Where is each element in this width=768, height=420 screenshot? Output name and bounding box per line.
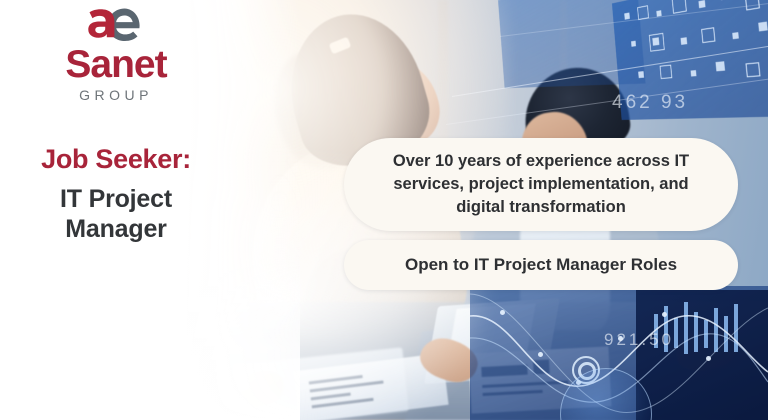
brand-name: Sanet <box>0 45 232 84</box>
job-seeker-banner: 462 93 <box>0 0 768 420</box>
headline-title-line2: Manager <box>65 215 166 243</box>
headline-title: IT Project Manager <box>0 184 232 244</box>
brand-logo[interactable]: Sanet GROUP <box>0 4 232 103</box>
brand-subtitle: GROUP <box>0 87 232 103</box>
ae-monogram-icon <box>78 4 154 48</box>
headline-title-line1: IT Project <box>60 185 172 213</box>
left-content-panel: Sanet GROUP Job Seeker: IT Project Manag… <box>0 0 232 420</box>
headline-eyebrow: Job Seeker: <box>0 144 232 174</box>
callout-open-to-roles: Open to IT Project Manager Roles <box>344 240 738 290</box>
headline-block: Job Seeker: IT Project Manager <box>0 144 232 244</box>
callout-experience: Over 10 years of experience across IT se… <box>344 138 738 231</box>
